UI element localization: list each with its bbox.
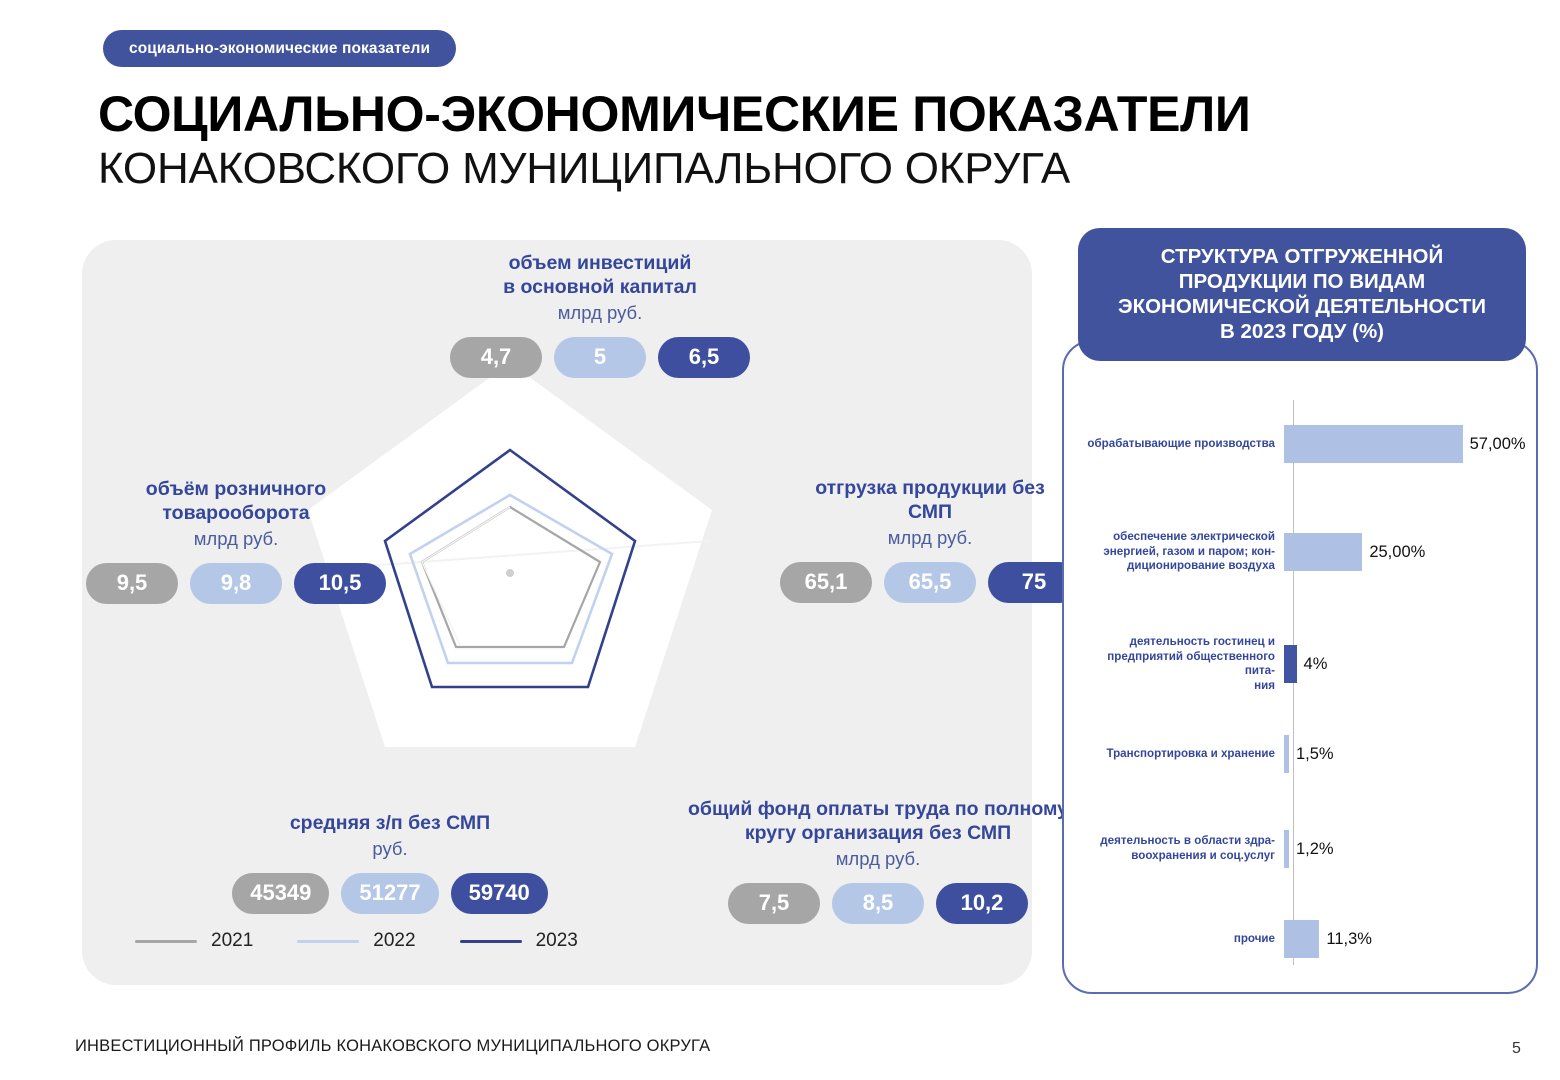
metric-invest: объем инвестиций в основной капитал млрд…	[420, 252, 780, 378]
metric-invest-label: объем инвестиций в основной капитал	[420, 252, 780, 300]
bar	[1284, 920, 1319, 958]
bar-row: обрабатывающие производства57,00%	[1078, 425, 1526, 463]
legend-swatch-2023	[460, 940, 522, 943]
bar-track: 4%	[1284, 645, 1526, 683]
bar-category-label: деятельность гостинец и предприятий обще…	[1078, 635, 1284, 694]
pill-2022: 65,5	[884, 562, 976, 603]
metric-retail-label: объём розничного товарооборота	[96, 478, 376, 526]
legend-item-2022: 2022	[297, 930, 415, 952]
bar-category-label: обеспечение электрической энергией, газо…	[1078, 530, 1284, 574]
bar-value-label: 57,00%	[1470, 435, 1526, 454]
metric-payroll-fund: общий фонд оплаты труда по полному кругу…	[672, 798, 1084, 924]
structure-panel-header: СТРУКТУРА ОТГРУЖЕННОЙ ПРОДУКЦИИ ПО ВИДАМ…	[1078, 228, 1526, 361]
metric-payroll-fund-label: общий фонд оплаты труда по полному кругу…	[672, 798, 1084, 846]
radar-legend: 2021 2022 2023	[135, 930, 535, 952]
metric-salary-label: средняя з/п без СМП	[200, 812, 580, 836]
bar-track: 25,00%	[1284, 533, 1526, 571]
bar-value-label: 1,2%	[1296, 840, 1334, 859]
bar-row: деятельность в области здра- воохранения…	[1078, 830, 1526, 868]
metric-salary-unit: руб.	[200, 837, 580, 861]
bar-category-label: деятельность в области здра- воохранения…	[1078, 834, 1284, 863]
metric-retail: объём розничного товарооборота млрд руб.…	[96, 478, 376, 604]
bar-track: 1,2%	[1284, 830, 1526, 868]
bar-track: 1,5%	[1284, 735, 1526, 773]
metric-shipment-label: отгрузка продукции без СМП	[790, 477, 1070, 525]
structure-bar-chart: обрабатывающие производства57,00%обеспеч…	[1078, 390, 1526, 975]
pill-2022: 8,5	[832, 883, 924, 924]
bar	[1284, 735, 1289, 773]
bar-row: деятельность гостинец и предприятий обще…	[1078, 635, 1526, 694]
pill-2021: 45349	[232, 873, 329, 914]
pill-2021: 65,1	[780, 562, 872, 603]
pill-2022: 5	[554, 337, 646, 378]
bar	[1284, 533, 1362, 571]
metric-shipment-unit: млрд руб.	[790, 526, 1070, 550]
metric-shipment: отгрузка продукции без СМП млрд руб. 65,…	[790, 477, 1070, 603]
bar-value-label: 4%	[1304, 655, 1328, 674]
pill-2022: 51277	[341, 873, 438, 914]
bar-row: Транспортировка и хранение1,5%	[1078, 735, 1526, 773]
bar-value-label: 11,3%	[1326, 930, 1372, 949]
metric-invest-unit: млрд руб.	[420, 301, 780, 325]
bar-value-label: 25,00%	[1369, 543, 1425, 562]
pill-2023: 6,5	[658, 337, 750, 378]
bar-category-label: обрабатывающие производства	[1078, 437, 1284, 452]
legend-label-2022: 2022	[373, 930, 415, 952]
metric-invest-pills: 4,7 5 6,5	[420, 337, 780, 378]
section-badge: социально-экономические показатели	[103, 30, 456, 67]
bar	[1284, 425, 1463, 463]
pill-2021: 9,5	[86, 563, 178, 604]
bar-track: 57,00%	[1284, 425, 1526, 463]
slide-root: социально-экономические показатели СОЦИА…	[0, 0, 1560, 1080]
metric-payroll-fund-unit: млрд руб.	[672, 847, 1084, 871]
metric-salary-pills: 45349 51277 59740	[200, 873, 580, 914]
bar-row: обеспечение электрической энергией, газо…	[1078, 530, 1526, 574]
pill-2023: 10,5	[294, 563, 386, 604]
legend-item-2023: 2023	[460, 930, 578, 952]
bar	[1284, 830, 1289, 868]
pill-2023: 59740	[451, 873, 548, 914]
bar-category-label: прочие	[1078, 932, 1284, 947]
pill-2022: 9,8	[190, 563, 282, 604]
footer-text: ИНВЕСТИЦИОННЫЙ ПРОФИЛЬ КОНАКОВСКОГО МУНИ…	[75, 1037, 710, 1056]
bar	[1284, 645, 1297, 683]
page-title: СОЦИАЛЬНО-ЭКОНОМИЧЕСКИЕ ПОКАЗАТЕЛИ КОНАК…	[98, 88, 1251, 193]
legend-swatch-2021	[135, 940, 197, 943]
title-line-1: СОЦИАЛЬНО-ЭКОНОМИЧЕСКИЕ ПОКАЗАТЕЛИ	[98, 88, 1251, 141]
bar-row: прочие11,3%	[1078, 920, 1526, 958]
metric-salary: средняя з/п без СМП руб. 45349 51277 597…	[200, 812, 580, 914]
metric-payroll-fund-pills: 7,5 8,5 10,2	[672, 883, 1084, 924]
pill-2021: 7,5	[728, 883, 820, 924]
legend-item-2021: 2021	[135, 930, 253, 952]
bar-category-label: Транспортировка и хранение	[1078, 747, 1284, 762]
legend-label-2021: 2021	[211, 930, 253, 952]
bar-value-label: 1,5%	[1296, 745, 1334, 764]
metric-shipment-pills: 65,1 65,5 75	[790, 562, 1070, 603]
metric-retail-unit: млрд руб.	[96, 527, 376, 551]
title-line-2: КОНАКОВСКОГО МУНИЦИПАЛЬНОГО ОКРУГА	[98, 145, 1251, 193]
legend-swatch-2022	[297, 940, 359, 943]
metric-retail-pills: 9,5 9,8 10,5	[96, 563, 376, 604]
pill-2021: 4,7	[450, 337, 542, 378]
legend-label-2023: 2023	[536, 930, 578, 952]
bar-track: 11,3%	[1284, 920, 1526, 958]
pill-2023: 10,2	[936, 883, 1028, 924]
page-number: 5	[1512, 1040, 1521, 1058]
